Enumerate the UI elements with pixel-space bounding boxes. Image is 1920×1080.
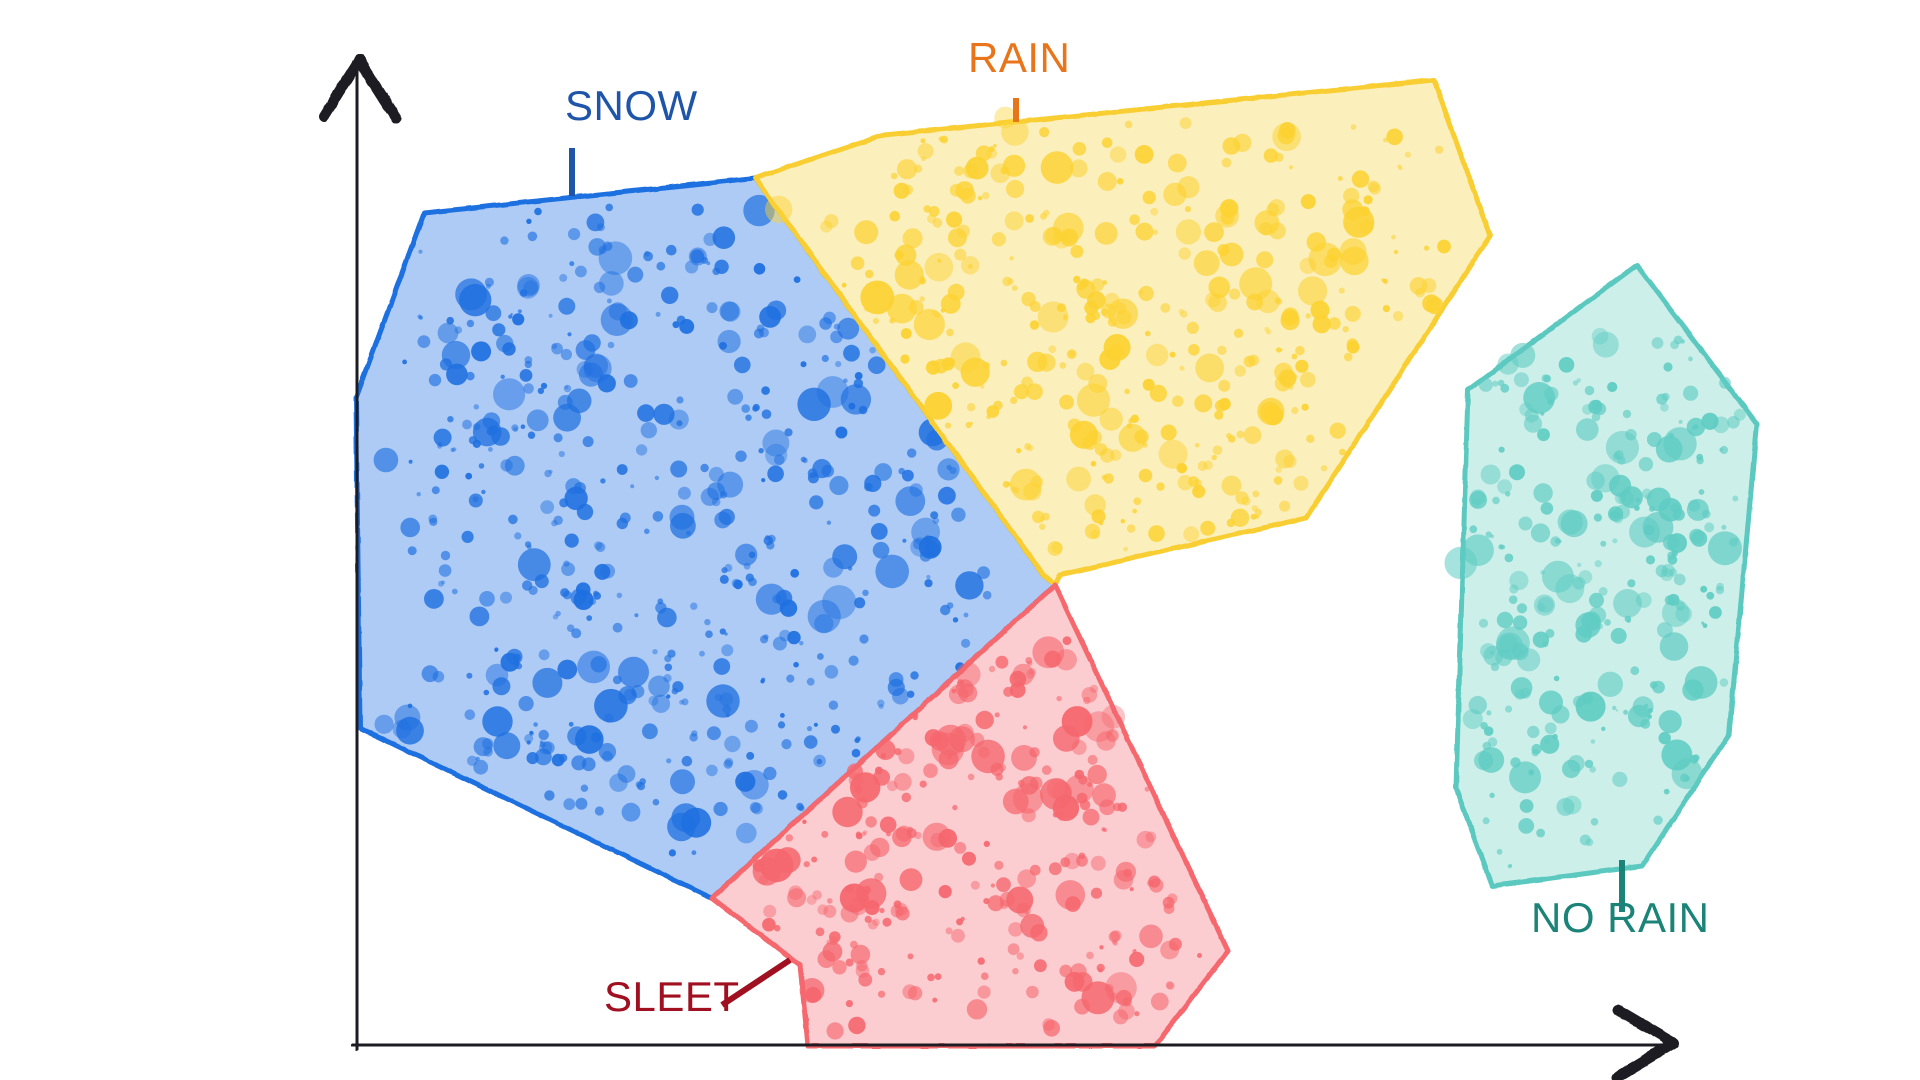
data-point bbox=[993, 401, 1002, 410]
data-point bbox=[699, 651, 705, 657]
data-point bbox=[1505, 706, 1512, 713]
data-point bbox=[1490, 651, 1494, 655]
data-point bbox=[484, 690, 490, 696]
data-point bbox=[1172, 396, 1183, 407]
data-point bbox=[1700, 586, 1707, 593]
data-point bbox=[1720, 446, 1728, 454]
data-point bbox=[526, 219, 531, 224]
data-point bbox=[879, 704, 884, 709]
data-point bbox=[907, 448, 916, 457]
data-point bbox=[864, 483, 873, 492]
data-point bbox=[1091, 278, 1104, 291]
data-point bbox=[925, 253, 954, 282]
data-point bbox=[1351, 124, 1357, 130]
data-point bbox=[544, 790, 554, 800]
data-point bbox=[1060, 362, 1067, 369]
data-point bbox=[799, 641, 803, 645]
data-point bbox=[670, 461, 687, 478]
data-point bbox=[1497, 849, 1503, 855]
data-point bbox=[561, 349, 572, 360]
data-point bbox=[1012, 968, 1018, 974]
data-point bbox=[1393, 311, 1403, 321]
data-point bbox=[1096, 731, 1115, 750]
data-point bbox=[1693, 754, 1700, 761]
data-point bbox=[1020, 914, 1044, 938]
data-point bbox=[559, 451, 565, 457]
data-point bbox=[521, 424, 526, 429]
data-point bbox=[1421, 278, 1436, 293]
data-point bbox=[1469, 525, 1477, 533]
data-point bbox=[1616, 709, 1618, 711]
data-point bbox=[746, 752, 754, 760]
data-point bbox=[1006, 887, 1033, 914]
data-point bbox=[520, 369, 533, 382]
data-point bbox=[653, 799, 660, 806]
data-point bbox=[1111, 930, 1122, 941]
data-point bbox=[1291, 407, 1298, 414]
data-point bbox=[1499, 635, 1518, 654]
data-point bbox=[1083, 809, 1100, 826]
data-point bbox=[1252, 505, 1258, 511]
data-point bbox=[994, 861, 1003, 870]
data-point bbox=[575, 266, 587, 278]
data-point bbox=[908, 953, 914, 959]
data-point bbox=[1313, 315, 1331, 333]
data-point bbox=[1092, 509, 1106, 523]
data-point bbox=[807, 895, 817, 905]
data-point bbox=[817, 904, 828, 915]
data-point bbox=[1268, 199, 1285, 216]
data-point bbox=[946, 358, 955, 367]
data-point bbox=[1123, 869, 1132, 878]
data-point bbox=[1498, 380, 1505, 387]
data-point bbox=[565, 534, 579, 548]
data-point bbox=[1685, 666, 1718, 699]
data-point bbox=[441, 580, 445, 584]
data-point bbox=[1343, 326, 1349, 332]
data-point bbox=[1290, 374, 1297, 381]
data-point bbox=[1469, 696, 1487, 714]
data-point bbox=[971, 881, 980, 890]
data-point bbox=[1488, 737, 1498, 747]
data-point bbox=[1059, 395, 1074, 410]
data-point bbox=[479, 463, 485, 469]
data-point bbox=[1217, 346, 1226, 355]
data-point bbox=[1577, 378, 1582, 383]
data-point bbox=[1497, 479, 1512, 494]
data-point bbox=[961, 256, 979, 274]
data-point bbox=[1537, 603, 1546, 612]
data-point bbox=[1244, 426, 1262, 444]
data-point bbox=[1649, 506, 1655, 512]
data-point bbox=[872, 919, 879, 926]
data-point bbox=[434, 429, 452, 447]
data-point bbox=[801, 361, 807, 367]
data-point bbox=[1032, 511, 1044, 523]
data-point bbox=[1513, 615, 1527, 629]
data-point bbox=[952, 382, 959, 389]
data-point bbox=[873, 318, 879, 324]
data-point bbox=[955, 181, 974, 200]
data-point bbox=[1696, 457, 1703, 464]
data-point bbox=[1658, 498, 1682, 522]
data-point bbox=[865, 816, 876, 827]
data-point bbox=[935, 973, 942, 980]
data-point bbox=[563, 798, 575, 810]
data-point bbox=[571, 755, 586, 770]
data-point bbox=[666, 694, 670, 698]
data-point bbox=[1139, 469, 1153, 483]
data-point bbox=[1194, 394, 1212, 412]
data-point bbox=[617, 593, 623, 599]
data-point bbox=[1102, 705, 1126, 729]
data-point bbox=[1664, 789, 1670, 795]
data-point bbox=[875, 767, 883, 775]
data-point bbox=[961, 639, 970, 648]
data-point bbox=[1653, 816, 1662, 825]
data-point bbox=[471, 341, 491, 361]
data-point bbox=[1471, 498, 1481, 508]
data-point bbox=[733, 580, 743, 590]
data-point bbox=[1611, 628, 1627, 644]
data-point bbox=[1091, 888, 1102, 899]
data-point bbox=[583, 334, 600, 351]
data-point bbox=[1598, 672, 1623, 697]
data-point bbox=[1492, 497, 1500, 505]
data-point bbox=[447, 416, 453, 422]
data-point bbox=[652, 649, 657, 654]
data-point bbox=[1007, 482, 1011, 486]
data-point bbox=[1043, 210, 1049, 216]
data-point bbox=[869, 347, 876, 354]
data-point bbox=[981, 972, 989, 980]
data-point bbox=[1612, 706, 1616, 710]
data-point bbox=[602, 751, 613, 762]
data-point bbox=[850, 941, 858, 949]
data-point bbox=[846, 1000, 853, 1007]
data-point bbox=[1011, 745, 1037, 771]
data-point bbox=[1025, 910, 1029, 914]
data-point bbox=[520, 289, 528, 297]
data-point bbox=[823, 312, 836, 325]
data-point bbox=[624, 689, 636, 701]
data-point bbox=[961, 917, 965, 921]
data-point bbox=[924, 579, 932, 587]
data-point bbox=[772, 594, 781, 603]
data-point bbox=[1391, 235, 1396, 240]
data-point bbox=[1167, 982, 1175, 990]
data-point bbox=[679, 700, 684, 705]
data-point bbox=[1148, 876, 1160, 888]
data-point bbox=[1545, 722, 1557, 734]
data-point bbox=[727, 389, 743, 405]
data-point bbox=[569, 261, 574, 266]
data-point bbox=[586, 615, 592, 621]
data-point bbox=[1683, 386, 1698, 401]
data-point bbox=[1065, 896, 1081, 912]
data-point bbox=[1042, 765, 1052, 775]
data-point bbox=[508, 515, 518, 525]
data-point bbox=[1052, 542, 1063, 553]
data-point bbox=[1125, 121, 1133, 129]
data-point bbox=[644, 529, 650, 535]
data-point bbox=[724, 736, 740, 752]
data-point bbox=[775, 847, 801, 873]
data-point bbox=[1585, 386, 1595, 396]
data-point bbox=[1282, 307, 1299, 324]
data-point bbox=[494, 649, 497, 652]
data-point bbox=[1306, 435, 1314, 443]
data-point bbox=[1205, 292, 1220, 307]
data-point bbox=[539, 730, 549, 740]
data-point bbox=[1542, 641, 1548, 647]
data-point bbox=[856, 736, 861, 741]
data-point bbox=[569, 722, 574, 727]
data-point bbox=[1203, 460, 1213, 470]
data-point bbox=[1180, 366, 1185, 371]
data-point bbox=[809, 495, 823, 509]
data-point bbox=[980, 384, 984, 388]
data-point bbox=[991, 164, 1011, 184]
data-point bbox=[759, 328, 769, 338]
data-point bbox=[661, 287, 678, 304]
data-point bbox=[1156, 482, 1164, 490]
data-point bbox=[848, 1017, 865, 1034]
data-point bbox=[900, 868, 923, 891]
data-point bbox=[983, 362, 990, 369]
data-point bbox=[492, 677, 510, 695]
data-point bbox=[939, 136, 944, 141]
data-point bbox=[636, 781, 643, 788]
cluster-label-sleet[interactable]: SLEET bbox=[604, 973, 740, 1021]
data-point bbox=[1544, 738, 1550, 744]
data-point bbox=[1659, 732, 1671, 744]
data-point bbox=[514, 532, 521, 539]
data-point bbox=[1063, 636, 1072, 645]
data-point bbox=[1645, 494, 1651, 500]
data-point bbox=[948, 228, 967, 247]
data-point bbox=[1613, 589, 1642, 618]
data-point bbox=[575, 798, 587, 810]
data-point bbox=[901, 328, 912, 339]
data-point bbox=[715, 694, 723, 702]
data-point bbox=[1679, 420, 1683, 424]
data-point bbox=[1279, 501, 1290, 512]
data-point bbox=[408, 546, 417, 555]
data-point bbox=[902, 984, 917, 999]
data-point bbox=[703, 233, 716, 246]
data-point bbox=[735, 544, 757, 566]
data-point bbox=[604, 713, 613, 722]
data-point bbox=[1275, 376, 1291, 392]
data-point bbox=[599, 241, 633, 275]
data-point bbox=[735, 772, 755, 792]
data-point bbox=[667, 813, 696, 842]
data-point bbox=[641, 422, 657, 438]
data-point bbox=[754, 263, 766, 275]
data-point bbox=[978, 986, 991, 999]
data-point bbox=[538, 388, 544, 394]
data-point bbox=[1540, 570, 1545, 575]
data-point bbox=[1364, 195, 1373, 204]
data-point bbox=[983, 898, 989, 904]
data-point bbox=[745, 415, 751, 421]
data-point bbox=[511, 313, 513, 315]
data-point bbox=[1347, 338, 1359, 350]
data-point bbox=[1338, 176, 1343, 181]
data-point bbox=[829, 476, 848, 495]
data-point bbox=[1599, 587, 1608, 596]
data-point bbox=[1706, 592, 1714, 600]
data-point bbox=[1483, 817, 1490, 824]
data-point bbox=[418, 315, 422, 319]
data-point bbox=[1612, 772, 1627, 787]
data-point bbox=[868, 356, 886, 374]
data-point bbox=[713, 658, 730, 675]
data-point bbox=[825, 665, 839, 679]
data-point bbox=[996, 877, 1011, 892]
data-point bbox=[1176, 219, 1201, 244]
data-point bbox=[988, 895, 1004, 911]
data-point bbox=[763, 634, 768, 639]
data-point bbox=[807, 678, 815, 686]
data-point bbox=[1113, 941, 1118, 946]
data-point bbox=[802, 820, 806, 824]
data-point bbox=[567, 332, 571, 336]
data-point bbox=[428, 515, 437, 524]
data-point bbox=[488, 447, 493, 452]
data-point bbox=[1340, 238, 1367, 265]
data-point bbox=[1499, 447, 1505, 453]
data-point bbox=[761, 478, 765, 482]
cluster-label-no-rain[interactable]: NO RAIN bbox=[1531, 894, 1710, 942]
data-point bbox=[910, 671, 918, 679]
data-point bbox=[781, 739, 791, 749]
data-point bbox=[655, 476, 659, 480]
data-point bbox=[442, 341, 470, 369]
data-point bbox=[1145, 787, 1150, 792]
data-point bbox=[564, 487, 587, 510]
data-point bbox=[1188, 344, 1200, 356]
data-point bbox=[424, 589, 444, 609]
data-point bbox=[953, 617, 958, 622]
cluster-no-rain[interactable] bbox=[1445, 265, 1758, 886]
data-point bbox=[927, 974, 935, 982]
data-point bbox=[455, 278, 487, 310]
data-point bbox=[1043, 227, 1062, 246]
data-point bbox=[1675, 606, 1692, 623]
data-point bbox=[1594, 514, 1602, 522]
data-point bbox=[682, 756, 693, 767]
data-point bbox=[734, 357, 751, 374]
data-point bbox=[1518, 818, 1534, 834]
data-point bbox=[1066, 467, 1091, 492]
data-point bbox=[1025, 214, 1034, 223]
data-point bbox=[938, 487, 956, 505]
data-point bbox=[1070, 245, 1083, 258]
data-point bbox=[1343, 188, 1359, 204]
data-point bbox=[1053, 812, 1058, 817]
data-point bbox=[1479, 378, 1493, 392]
data-point bbox=[1665, 595, 1675, 605]
data-point bbox=[1160, 303, 1170, 313]
data-point bbox=[1039, 524, 1045, 530]
data-point bbox=[763, 905, 776, 918]
data-point bbox=[1129, 952, 1144, 967]
data-point bbox=[1121, 519, 1125, 523]
data-point bbox=[714, 512, 731, 529]
data-point bbox=[535, 574, 549, 588]
data-point bbox=[1103, 828, 1107, 832]
data-point bbox=[577, 651, 610, 684]
data-point bbox=[1274, 476, 1283, 485]
data-point bbox=[581, 785, 588, 792]
data-point bbox=[1006, 180, 1024, 198]
data-point bbox=[1652, 337, 1664, 349]
data-point bbox=[1248, 355, 1259, 366]
data-point bbox=[748, 578, 757, 587]
data-point bbox=[1301, 194, 1316, 209]
data-point bbox=[1486, 710, 1491, 715]
data-point bbox=[1077, 363, 1095, 381]
data-point bbox=[1091, 856, 1106, 871]
data-point bbox=[653, 511, 664, 522]
data-point bbox=[567, 389, 592, 414]
cluster-label-rain[interactable]: RAIN bbox=[968, 34, 1070, 82]
data-point bbox=[1719, 377, 1731, 389]
data-point bbox=[1292, 354, 1298, 360]
data-point bbox=[922, 279, 925, 282]
data-point bbox=[1591, 464, 1619, 492]
data-point bbox=[902, 470, 914, 482]
data-point bbox=[937, 458, 959, 480]
data-point bbox=[418, 335, 431, 348]
data-point bbox=[1179, 309, 1185, 315]
data-point bbox=[856, 832, 862, 838]
data-point bbox=[1704, 522, 1714, 532]
data-point bbox=[1531, 523, 1550, 542]
data-point bbox=[600, 564, 615, 579]
data-point bbox=[1307, 232, 1326, 251]
data-point bbox=[735, 451, 746, 462]
data-point bbox=[1498, 354, 1519, 375]
data-point bbox=[924, 392, 952, 420]
data-point bbox=[1256, 251, 1273, 268]
data-point bbox=[1072, 740, 1087, 755]
data-point bbox=[1168, 154, 1187, 173]
data-point bbox=[493, 378, 525, 410]
data-point bbox=[1128, 418, 1134, 424]
data-point bbox=[669, 849, 676, 856]
data-point bbox=[762, 918, 776, 932]
data-point bbox=[1117, 310, 1132, 325]
data-point bbox=[692, 850, 697, 855]
data-point bbox=[821, 831, 828, 838]
data-point bbox=[648, 696, 658, 706]
data-point bbox=[1132, 509, 1137, 514]
data-point bbox=[784, 428, 792, 436]
data-point bbox=[1086, 952, 1094, 960]
cluster-label-snow[interactable]: SNOW bbox=[565, 82, 698, 130]
data-point bbox=[1026, 986, 1039, 999]
data-point bbox=[879, 908, 884, 913]
data-point bbox=[1386, 129, 1403, 146]
data-point bbox=[858, 973, 872, 987]
data-point bbox=[605, 204, 613, 212]
data-point bbox=[1212, 455, 1217, 460]
data-point bbox=[707, 726, 721, 740]
data-point bbox=[519, 696, 534, 711]
